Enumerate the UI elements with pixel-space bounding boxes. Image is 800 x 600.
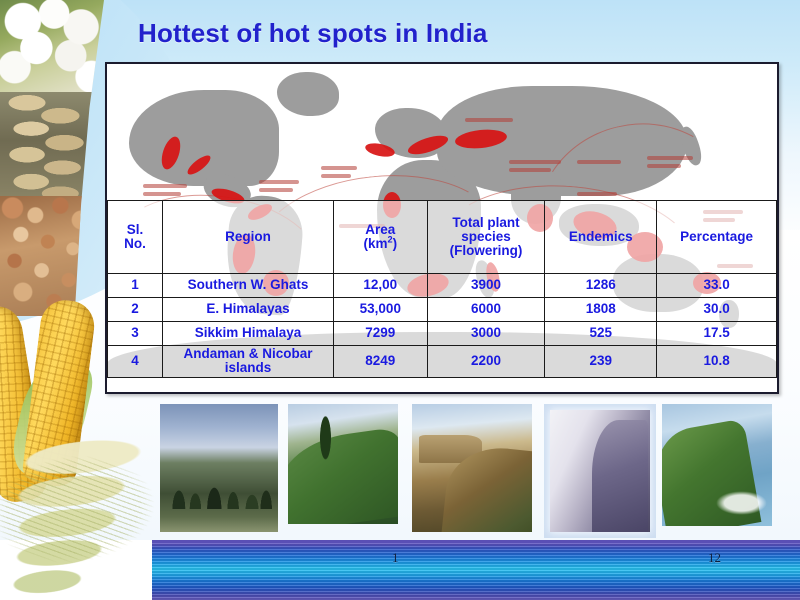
species-header-line3: (Flowering) <box>450 243 523 258</box>
cell-sl: 1 <box>108 274 163 298</box>
cotton-boll-image <box>0 0 104 96</box>
cell-percentage: 17.5 <box>657 322 777 346</box>
cell-sl: 3 <box>108 322 163 346</box>
groundnut-pods-image <box>0 92 104 200</box>
photo-misty-mountain <box>544 404 656 538</box>
cell-region: E. Himalayas <box>162 298 333 322</box>
photo-coastal-island <box>662 404 772 526</box>
cell-species: 2200 <box>427 346 545 378</box>
cell-species: 3000 <box>427 322 545 346</box>
species-header-line2: species <box>461 229 511 244</box>
table-row: 1 Southern W. Ghats 12,00 3900 1286 33.0 <box>108 274 777 298</box>
sl-header-line1: Sl. <box>127 222 144 237</box>
column-header-sl-no: Sl. No. <box>108 201 163 274</box>
column-header-area: Area (km2) <box>334 201 427 274</box>
page-number-left: 1 <box>392 550 399 566</box>
photo-himalayan-forest <box>160 404 278 532</box>
cell-percentage: 30.0 <box>657 298 777 322</box>
table-row: 3 Sikkim Himalaya 7299 3000 525 17.5 <box>108 322 777 346</box>
table-header-row: Sl. No. Region Area (km2) Total plant sp… <box>108 201 777 274</box>
cell-species: 6000 <box>427 298 545 322</box>
cell-endemics: 525 <box>545 322 657 346</box>
photo-hill-slope-tree <box>288 404 398 524</box>
cell-area: 12,00 <box>334 274 427 298</box>
column-header-percentage: Percentage <box>657 201 777 274</box>
footer-bar-top-edge <box>152 540 800 543</box>
world-hotspots-map-frame: Sl. No. Region Area (km2) Total plant sp… <box>105 62 779 394</box>
sl-header-line2: No. <box>124 236 146 251</box>
hotspot-photo-strip <box>160 404 776 536</box>
area-header-line2: (km2) <box>363 236 397 251</box>
hotspots-data-table: Sl. No. Region Area (km2) Total plant sp… <box>107 200 777 378</box>
footer-bar <box>152 540 800 600</box>
cell-endemics: 239 <box>545 346 657 378</box>
cell-endemics: 1808 <box>545 298 657 322</box>
cell-area: 53,000 <box>334 298 427 322</box>
cell-species: 3900 <box>427 274 545 298</box>
table-row: 4 Andaman & Nicobar islands 8249 2200 23… <box>108 346 777 378</box>
photo-rocky-cliffs <box>412 404 532 532</box>
cell-sl: 2 <box>108 298 163 322</box>
column-header-total-plant-species: Total plant species (Flowering) <box>427 201 545 274</box>
cell-percentage: 33.0 <box>657 274 777 298</box>
cell-sl: 4 <box>108 346 163 378</box>
cell-area: 8249 <box>334 346 427 378</box>
column-header-endemics: Endemics <box>545 201 657 274</box>
page-number-right: 12 <box>708 550 721 566</box>
page-title: Hottest of hot spots in India <box>138 18 488 49</box>
column-header-region: Region <box>162 201 333 274</box>
table-row: 2 E. Himalayas 53,000 6000 1808 30.0 <box>108 298 777 322</box>
slide: Hottest of hot spots in India <box>0 0 800 600</box>
cell-region: Andaman & Nicobar islands <box>162 346 333 378</box>
cell-area: 7299 <box>334 322 427 346</box>
cell-region: Southern W. Ghats <box>162 274 333 298</box>
cell-percentage: 10.8 <box>657 346 777 378</box>
cell-region: Sikkim Himalaya <box>162 322 333 346</box>
cell-endemics: 1286 <box>545 274 657 298</box>
millet-grain-image <box>0 196 104 316</box>
species-header-line1: Total plant <box>452 215 519 230</box>
